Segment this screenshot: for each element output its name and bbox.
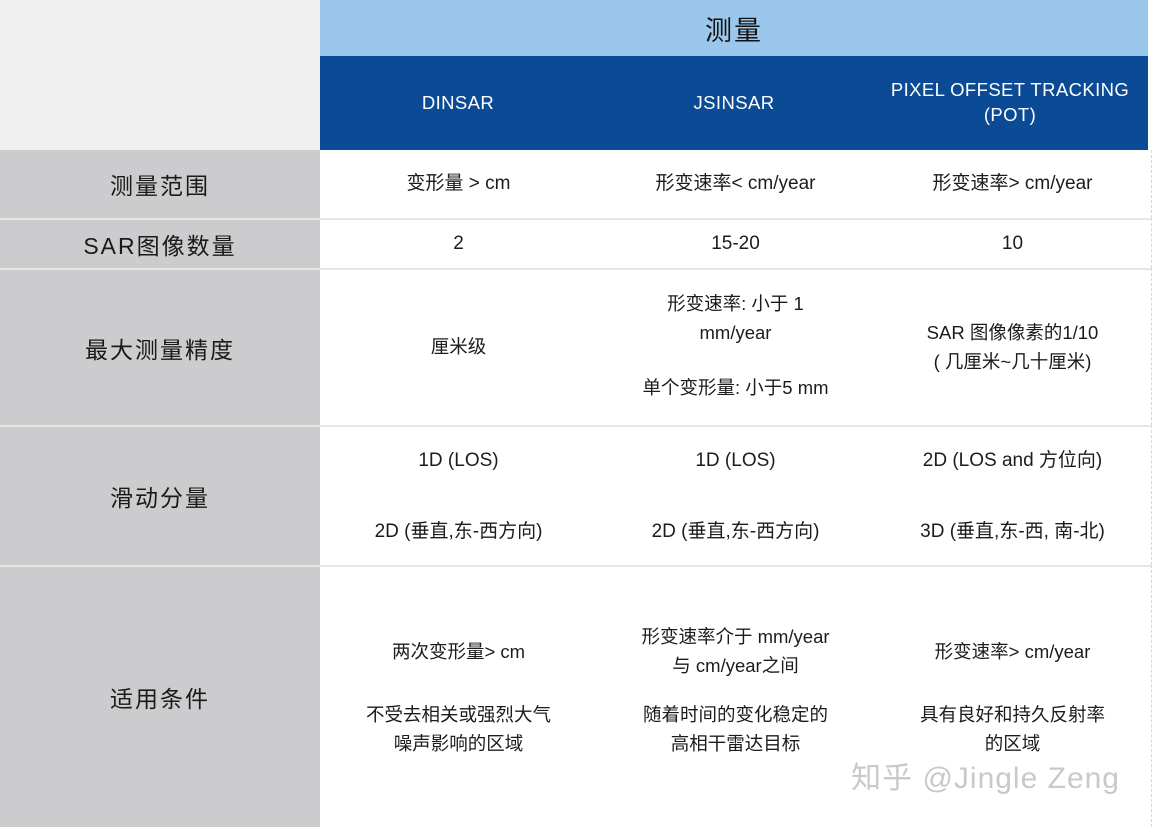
conditions-jsinsar-stack: 形变速率介于 mm/year 与 cm/year之间 随着时间的变化稳定的 高相… <box>641 573 829 821</box>
row-data-max-accuracy: 厘米级 形变速率: 小于 1 mm/year 单个变形量: 小于5 mm SAR… <box>320 268 1152 425</box>
table-row: 测量范围 变形量 > cm 形变速率< cm/year 形变速率> cm/yea… <box>0 150 1152 218</box>
slip-jsinsar-stack: 1D (LOS) 2D (垂直,东-西方向) <box>652 446 820 547</box>
cell-slip-dinsar: 1D (LOS) 2D (垂直,东-西方向) <box>320 427 597 565</box>
cell-conditions-dinsar: 两次变形量> cm 不受去相关或强烈大气 噪声影响的区域 <box>320 567 597 827</box>
row-label-sar-image-count: SAR图像数量 <box>0 218 320 268</box>
comparison-table-page: 测量 DINSAR JSINSAR PIXEL OFFSET TRACKING … <box>0 0 1152 827</box>
conditions-dinsar-stack: 两次变形量> cm 不受去相关或强烈大气 噪声影响的区域 <box>366 573 551 821</box>
slip-dinsar-stack: 1D (LOS) 2D (垂直,东-西方向) <box>375 446 543 547</box>
conditions-pot-secondary: 具有良好和持久反射率 的区域 <box>920 701 1105 758</box>
cell-slip-pot: 2D (LOS and 方位向) 3D (垂直,东-西, 南-北) <box>874 427 1151 565</box>
cell-range-jsinsar: 形变速率< cm/year <box>597 150 874 218</box>
cell-accuracy-pot: SAR 图像像素的1/10 ( 几厘米~几十厘米) <box>874 270 1151 425</box>
conditions-jsinsar-secondary: 随着时间的变化稳定的 高相干雷达目标 <box>643 701 828 758</box>
cell-accuracy-dinsar: 厘米级 <box>320 270 597 425</box>
row-data-sar-image-count: 2 15-20 10 <box>320 218 1152 268</box>
conditions-pot-primary: 形变速率> cm/year <box>935 621 1091 683</box>
conditions-dinsar-primary: 两次变形量> cm <box>392 621 525 683</box>
column-header-dinsar: DINSAR <box>320 56 596 150</box>
table-corner-blank <box>0 0 320 150</box>
cell-range-dinsar: 变形量 > cm <box>320 150 597 218</box>
cell-conditions-jsinsar: 形变速率介于 mm/year 与 cm/year之间 随着时间的变化稳定的 高相… <box>597 567 874 827</box>
table-header-group: 测量 DINSAR JSINSAR PIXEL OFFSET TRACKING … <box>320 0 1148 150</box>
column-header-pot: PIXEL OFFSET TRACKING (POT) <box>872 56 1148 150</box>
watermark: 知乎 @Jingle Zeng <box>851 753 1120 797</box>
row-label-max-accuracy: 最大测量精度 <box>0 268 320 425</box>
column-header-jsinsar: JSINSAR <box>596 56 872 150</box>
accuracy-jsinsar-rate-block: 形变速率: 小于 1 mm/year <box>667 290 804 347</box>
table-body: 测量范围 变形量 > cm 形变速率< cm/year 形变速率> cm/yea… <box>0 150 1152 827</box>
cell-count-jsinsar: 15-20 <box>597 220 874 268</box>
table-row: SAR图像数量 2 15-20 10 <box>0 218 1152 268</box>
cell-slip-jsinsar: 1D (LOS) 2D (垂直,东-西方向) <box>597 427 874 565</box>
conditions-jsinsar-primary: 形变速率介于 mm/year 与 cm/year之间 <box>641 621 829 683</box>
conditions-dinsar-secondary: 不受去相关或强烈大气 噪声影响的区域 <box>366 701 551 758</box>
cell-accuracy-jsinsar: 形变速率: 小于 1 mm/year 单个变形量: 小于5 mm <box>597 270 874 425</box>
accuracy-jsinsar-stack: 形变速率: 小于 1 mm/year 单个变形量: 小于5 mm <box>642 276 828 419</box>
row-label-slip-component: 滑动分量 <box>0 425 320 565</box>
slip-pot-stack: 2D (LOS and 方位向) 3D (垂直,东-西, 南-北) <box>920 446 1105 547</box>
row-data-slip-component: 1D (LOS) 2D (垂直,东-西方向) 1D (LOS) 2D (垂直,东… <box>320 425 1152 565</box>
cell-count-pot: 10 <box>874 220 1151 268</box>
cell-count-dinsar: 2 <box>320 220 597 268</box>
table-column-header-row: DINSAR JSINSAR PIXEL OFFSET TRACKING (PO… <box>320 56 1148 150</box>
row-data-measurement-range: 变形量 > cm 形变速率< cm/year 形变速率> cm/year <box>320 150 1152 218</box>
row-label-measurement-range: 测量范围 <box>0 150 320 218</box>
table-title: 测量 <box>320 0 1148 56</box>
accuracy-jsinsar-single-block: 单个变形量: 小于5 mm <box>642 374 828 403</box>
cell-range-pot: 形变速率> cm/year <box>874 150 1151 218</box>
table-row: 最大测量精度 厘米级 形变速率: 小于 1 mm/year 单个变形量: 小于5… <box>0 268 1152 425</box>
row-label-applicable-conditions: 适用条件 <box>0 565 320 827</box>
table-row: 滑动分量 1D (LOS) 2D (垂直,东-西方向) 1D (LOS) 2D … <box>0 425 1152 565</box>
